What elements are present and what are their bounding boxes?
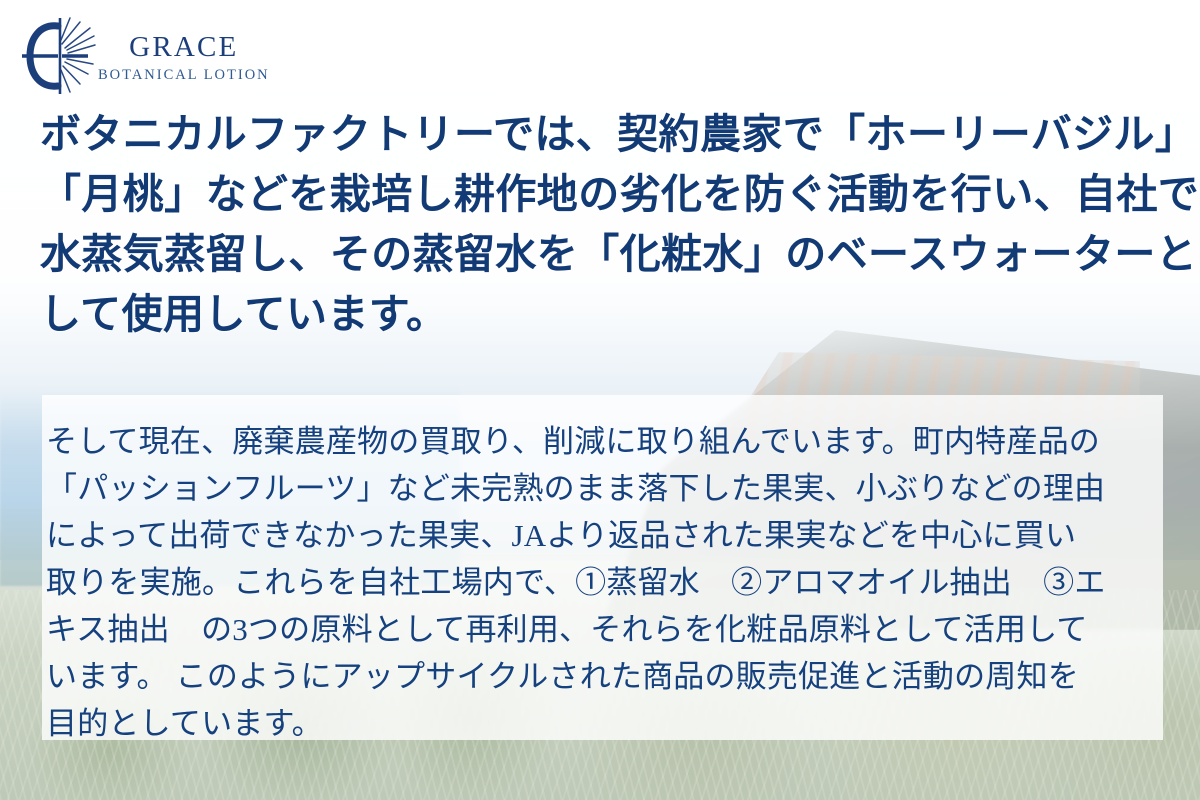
headline-block: ボタニカルファクトリーでは、契約農家で「ホーリーバジル」 「月桃」などを栽培し耕… — [40, 104, 1165, 344]
body-line: によって出荷できなかった果実、JAより返品された果実などを中心に買い — [46, 512, 1161, 559]
body-line: 目的としています。 — [46, 700, 1161, 747]
promo-slide: GRACE BOTANICAL LOTION ボタニカルファクトリーでは、契約農… — [0, 0, 1200, 800]
headline-line: 「月桃」などを栽培し耕作地の劣化を防ぐ活動を行い、自社で — [40, 164, 1165, 224]
brand-logo: GRACE BOTANICAL LOTION — [18, 14, 270, 98]
brand-name: GRACE — [129, 33, 238, 62]
body-line: 「パッションフルーツ」など未完熟のまま落下した果実、小ぶりなどの理由 — [46, 465, 1161, 512]
brand-tagline: BOTANICAL LOTION — [98, 68, 270, 83]
headline-line: ボタニカルファクトリーでは、契約農家で「ホーリーバジル」 — [40, 104, 1165, 164]
body-text-block: そして現在、廃棄農産物の買取り、削減に取り組んでいます。町内特産品の 「パッショ… — [46, 418, 1161, 747]
body-line: います。 このようにアップサイクルされた商品の販売促進と活動の周知を — [46, 653, 1161, 700]
radiant-g-monogram-icon — [18, 14, 96, 98]
body-line: キス抽出 の3つの原料として再利用、それらを化粧品原料として活用して — [46, 606, 1161, 653]
headline-line: 水蒸気蒸留し、その蒸留水を「化粧水」のベースウォーターと — [40, 224, 1165, 284]
headline-line: して使用しています。 — [40, 284, 1165, 344]
body-line: 取りを実施。これらを自社工場内で、①蒸留水 ②アロマオイル抽出 ③エ — [46, 559, 1161, 606]
body-line: そして現在、廃棄農産物の買取り、削減に取り組んでいます。町内特産品の — [46, 418, 1161, 465]
brand-wordmark: GRACE BOTANICAL LOTION — [98, 29, 270, 83]
